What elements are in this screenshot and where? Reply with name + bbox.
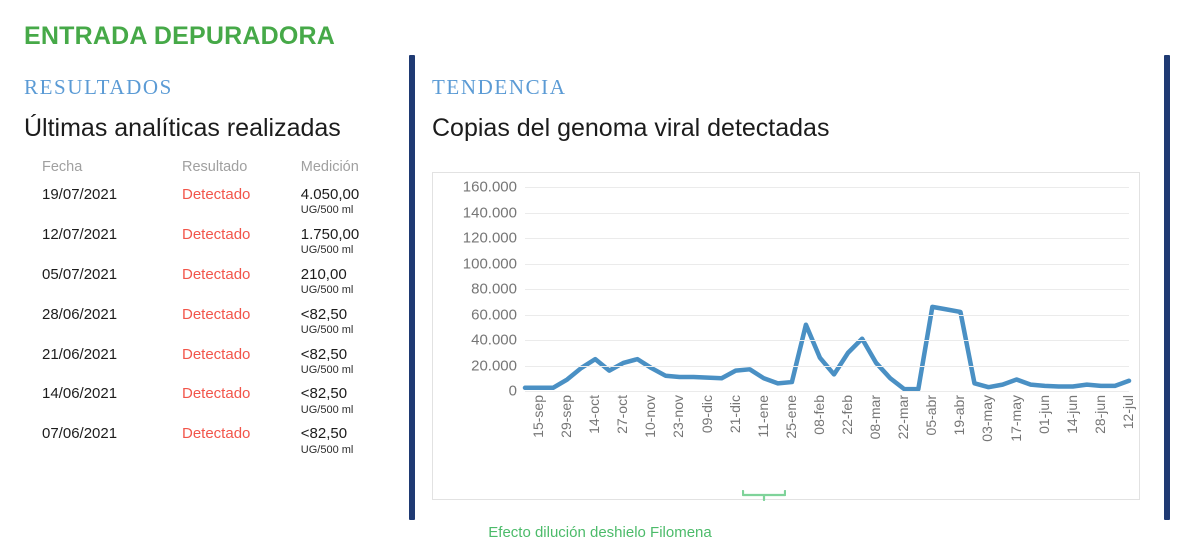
x-tick-label: 23-nov bbox=[670, 395, 686, 438]
chart-gridline bbox=[525, 264, 1129, 265]
table-row: 12/07/2021Detectado1.750,00UG/500 ml bbox=[24, 221, 390, 261]
cell-resultado: Detectado bbox=[182, 261, 301, 301]
annotation-label: Efecto dilución deshielo Filomena bbox=[0, 524, 1200, 541]
cell-fecha: 21/06/2021 bbox=[24, 341, 182, 381]
y-tick-label: 140.000 bbox=[433, 204, 517, 221]
cell-medicion: 1.750,00UG/500 ml bbox=[301, 221, 390, 261]
medicion-unit: UG/500 ml bbox=[301, 244, 390, 257]
chart-gridline bbox=[525, 340, 1129, 341]
medicion-unit: UG/500 ml bbox=[301, 364, 390, 377]
table-row: 28/06/2021Detectado<82,50UG/500 ml bbox=[24, 301, 390, 341]
medicion-value: <82,50 bbox=[301, 306, 390, 323]
x-tick-label: 29-sep bbox=[558, 395, 574, 438]
y-tick-label: 160.000 bbox=[433, 179, 517, 196]
column-header-fecha: Fecha bbox=[24, 159, 182, 181]
y-tick-label: 120.000 bbox=[433, 230, 517, 247]
medicion-unit: UG/500 ml bbox=[301, 444, 390, 457]
right-accent-rule bbox=[1164, 55, 1170, 520]
x-tick-label: 22-feb bbox=[839, 395, 855, 435]
x-tick-label: 28-jun bbox=[1092, 395, 1108, 434]
y-tick-label: 0 bbox=[433, 383, 517, 400]
column-header-resultado: Resultado bbox=[182, 159, 301, 181]
cell-medicion: <82,50UG/500 ml bbox=[301, 420, 390, 460]
results-table-body: 19/07/2021Detectado4.050,00UG/500 ml12/0… bbox=[24, 181, 390, 460]
cell-resultado: Detectado bbox=[182, 181, 301, 221]
cell-resultado: Detectado bbox=[182, 341, 301, 381]
x-tick-label: 17-may bbox=[1008, 395, 1024, 442]
x-tick-label: 25-ene bbox=[783, 395, 799, 439]
x-tick-label: 22-mar bbox=[895, 395, 911, 439]
chart-gridline bbox=[525, 187, 1129, 188]
results-panel-kicker: RESULTADOS bbox=[24, 75, 394, 100]
x-tick-label: 01-jun bbox=[1036, 395, 1052, 434]
medicion-value: 4.050,00 bbox=[301, 186, 390, 203]
trend-panel: TENDENCIA Copias del genoma viral detect… bbox=[432, 75, 1142, 143]
table-header-row: Fecha Resultado Medición bbox=[24, 159, 390, 181]
medicion-unit: UG/500 ml bbox=[301, 204, 390, 217]
chart-plot-area bbox=[525, 187, 1129, 391]
y-tick-label: 80.000 bbox=[433, 281, 517, 298]
medicion-value: <82,50 bbox=[301, 346, 390, 363]
cell-resultado: Detectado bbox=[182, 420, 301, 460]
table-row: 14/06/2021Detectado<82,50UG/500 ml bbox=[24, 380, 390, 420]
cell-fecha: 07/06/2021 bbox=[24, 420, 182, 460]
trend-panel-kicker: TENDENCIA bbox=[432, 75, 1142, 100]
chart-gridline bbox=[525, 213, 1129, 214]
medicion-value: <82,50 bbox=[301, 425, 390, 442]
medicion-value: <82,50 bbox=[301, 385, 390, 402]
results-panel: RESULTADOS Últimas analíticas realizadas… bbox=[24, 75, 394, 460]
cell-fecha: 14/06/2021 bbox=[24, 380, 182, 420]
y-tick-label: 100.000 bbox=[433, 255, 517, 272]
x-tick-label: 11-ene bbox=[755, 395, 771, 438]
y-tick-label: 40.000 bbox=[433, 332, 517, 349]
page-title: ENTRADA DEPURADORA bbox=[24, 22, 335, 51]
x-tick-label: 08-feb bbox=[811, 395, 827, 435]
table-row: 19/07/2021Detectado4.050,00UG/500 ml bbox=[24, 181, 390, 221]
chart-gridline bbox=[525, 289, 1129, 290]
cell-fecha: 05/07/2021 bbox=[24, 261, 182, 301]
cell-medicion: 210,00UG/500 ml bbox=[301, 261, 390, 301]
column-header-medicion: Medición bbox=[301, 159, 390, 181]
results-panel-heading: Últimas analíticas realizadas bbox=[24, 114, 394, 143]
table-row: 21/06/2021Detectado<82,50UG/500 ml bbox=[24, 341, 390, 381]
y-tick-label: 20.000 bbox=[433, 357, 517, 374]
cell-medicion: <82,50UG/500 ml bbox=[301, 301, 390, 341]
left-accent-rule bbox=[409, 55, 415, 520]
x-tick-label: 09-dic bbox=[699, 395, 715, 433]
chart-y-axis: 160.000140.000120.000100.00080.00060.000… bbox=[433, 187, 517, 391]
x-tick-label: 10-nov bbox=[642, 395, 658, 438]
trend-panel-heading: Copias del genoma viral detectadas bbox=[432, 114, 1142, 143]
medicion-unit: UG/500 ml bbox=[301, 284, 390, 297]
x-tick-label: 14-oct bbox=[586, 395, 602, 434]
x-tick-label: 27-oct bbox=[614, 395, 630, 434]
chart-gridline bbox=[525, 238, 1129, 239]
table-row: 05/07/2021Detectado210,00UG/500 ml bbox=[24, 261, 390, 301]
results-table: Fecha Resultado Medición 19/07/2021Detec… bbox=[24, 159, 390, 460]
cell-medicion: <82,50UG/500 ml bbox=[301, 380, 390, 420]
medicion-unit: UG/500 ml bbox=[301, 404, 390, 417]
x-tick-label: 12-jul bbox=[1120, 395, 1136, 429]
x-tick-label: 05-abr bbox=[923, 395, 939, 435]
medicion-value: 210,00 bbox=[301, 266, 390, 283]
medicion-value: 1.750,00 bbox=[301, 226, 390, 243]
cell-fecha: 19/07/2021 bbox=[24, 181, 182, 221]
table-row: 07/06/2021Detectado<82,50UG/500 ml bbox=[24, 420, 390, 460]
x-tick-label: 08-mar bbox=[867, 395, 883, 439]
chart-gridline bbox=[525, 315, 1129, 316]
x-tick-label: 03-may bbox=[979, 395, 995, 442]
x-tick-label: 15-sep bbox=[530, 395, 546, 438]
annotation-bracket-icon bbox=[742, 490, 786, 501]
x-tick-label: 19-abr bbox=[951, 395, 967, 435]
cell-resultado: Detectado bbox=[182, 301, 301, 341]
y-tick-label: 60.000 bbox=[433, 306, 517, 323]
cell-medicion: 4.050,00UG/500 ml bbox=[301, 181, 390, 221]
cell-fecha: 12/07/2021 bbox=[24, 221, 182, 261]
cell-resultado: Detectado bbox=[182, 380, 301, 420]
chart-x-axis: 15-sep29-sep14-oct27-oct10-nov23-nov09-d… bbox=[525, 395, 1129, 489]
medicion-unit: UG/500 ml bbox=[301, 324, 390, 337]
x-tick-label: 21-dic bbox=[727, 395, 743, 433]
cell-resultado: Detectado bbox=[182, 221, 301, 261]
cell-medicion: <82,50UG/500 ml bbox=[301, 341, 390, 381]
x-tick-label: 14-jun bbox=[1064, 395, 1080, 434]
cell-fecha: 28/06/2021 bbox=[24, 301, 182, 341]
trend-chart: 160.000140.000120.000100.00080.00060.000… bbox=[432, 172, 1140, 500]
chart-gridline bbox=[525, 391, 1129, 392]
chart-gridline bbox=[525, 366, 1129, 367]
